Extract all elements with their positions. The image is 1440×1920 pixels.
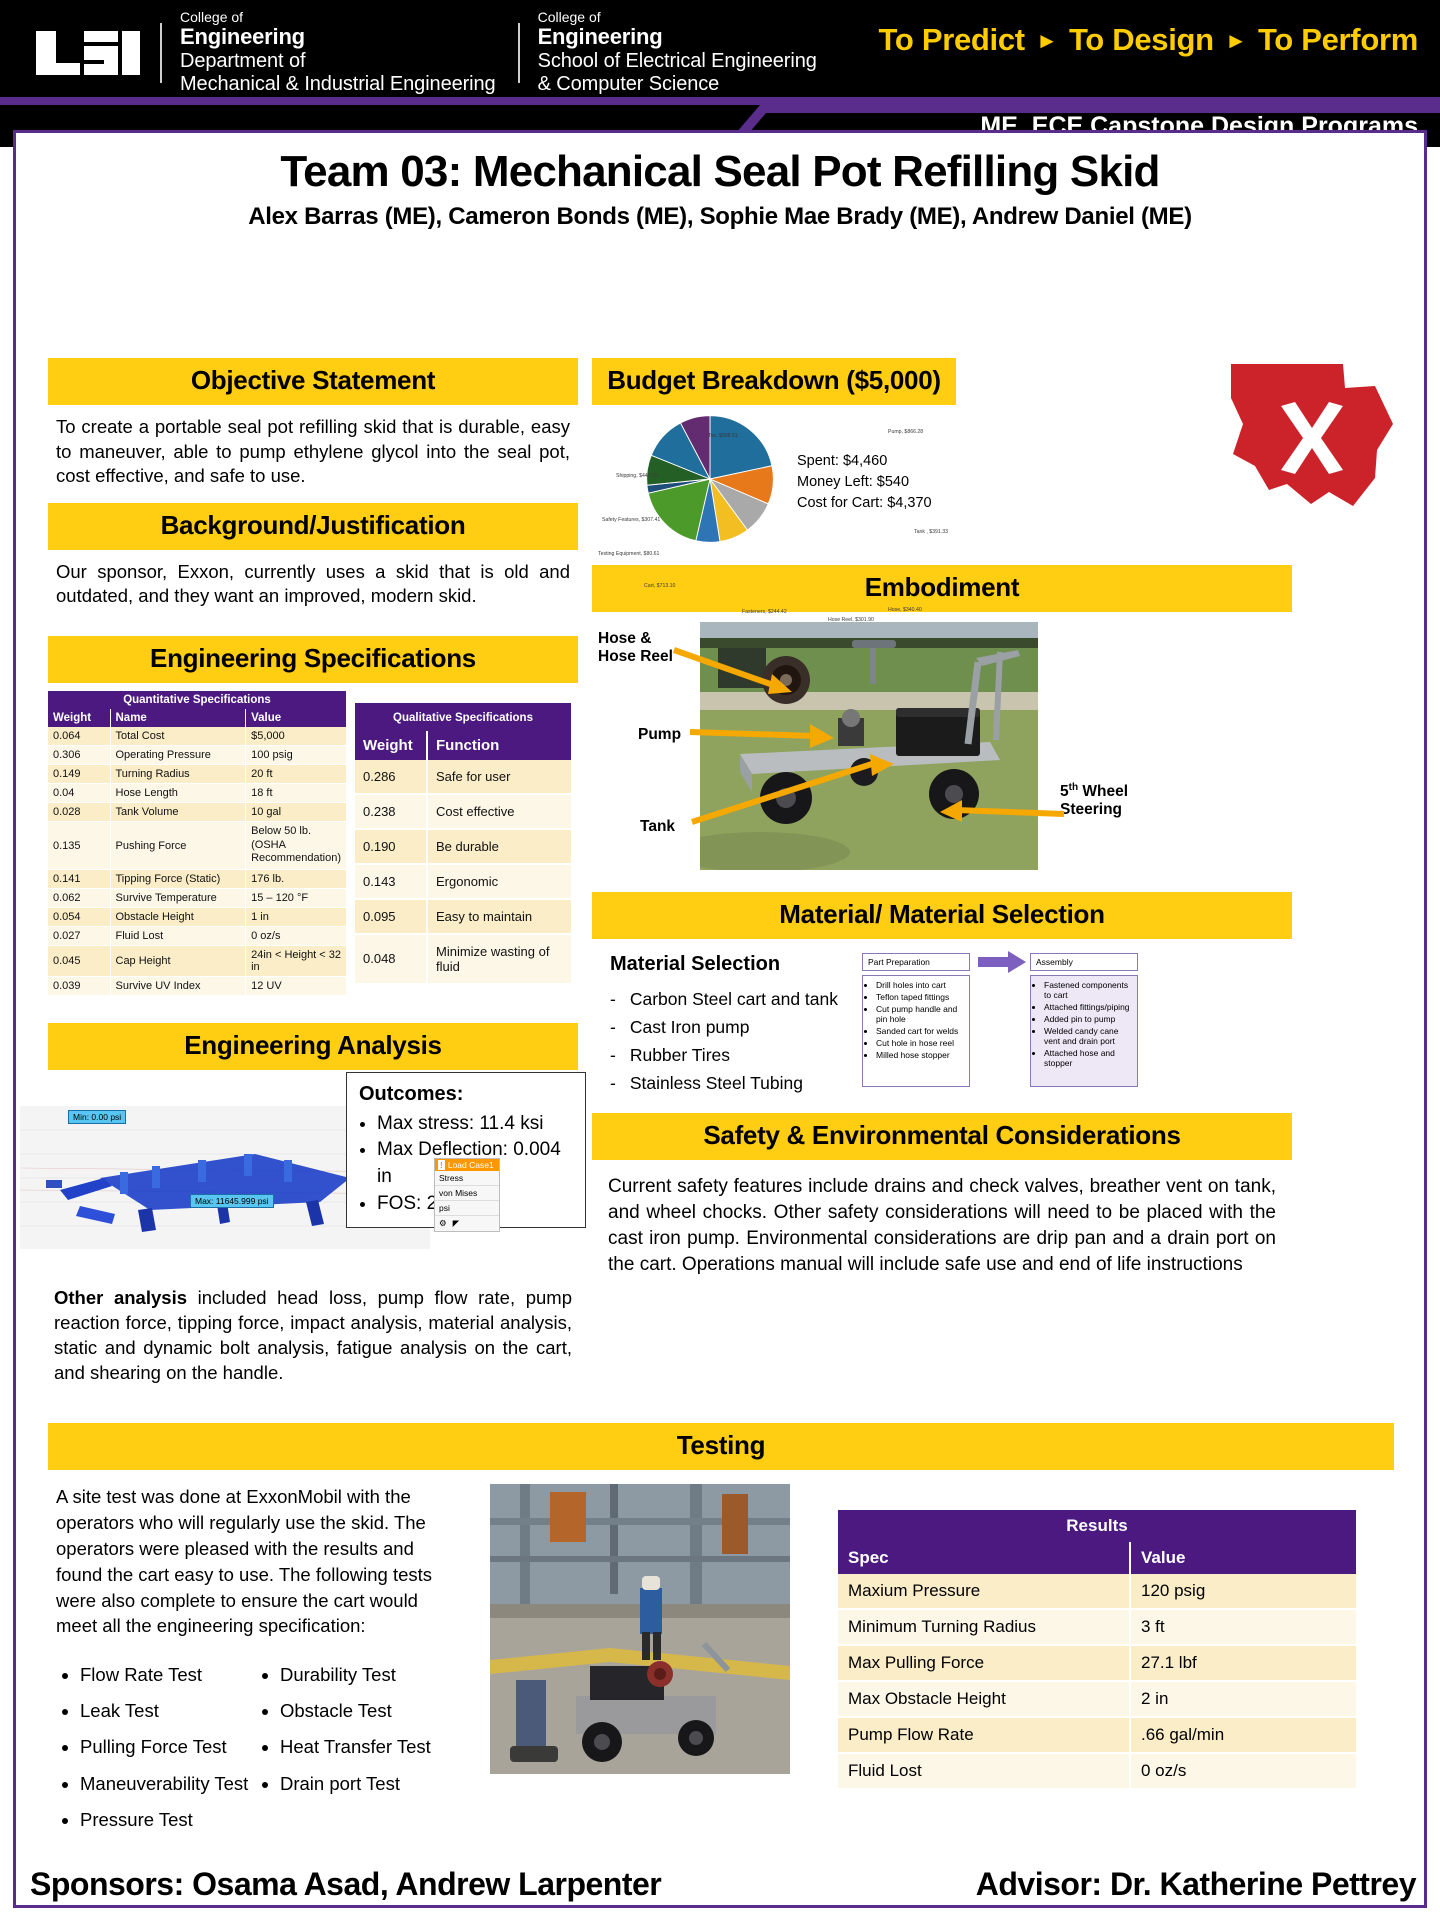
triangle-right-icon-1: ► bbox=[1033, 28, 1060, 53]
results-col-spec: Spec bbox=[838, 1542, 1130, 1574]
warning-icon: ! bbox=[438, 1160, 445, 1170]
results-table-body: Maxium Pressure120 psigMinimum Turning R… bbox=[838, 1574, 1357, 1789]
table-cell: Survive Temperature bbox=[110, 889, 246, 908]
table-row: Max Pulling Force27.1 lbf bbox=[838, 1645, 1357, 1681]
table-row: 0.306Operating Pressure100 psig bbox=[48, 745, 347, 764]
qualitative-specs-table: Qualitative Specifications Weight Functi… bbox=[355, 703, 573, 985]
table-cell: Easy to maintain bbox=[427, 899, 572, 934]
site-test-photo bbox=[490, 1484, 790, 1774]
budget-remaining: Money Left: $540 bbox=[797, 472, 932, 493]
table-cell: 0.095 bbox=[355, 899, 427, 934]
table-cell: 0.062 bbox=[48, 889, 110, 908]
budget-notes: Spent: $4,460 Money Left: $540 Cost for … bbox=[797, 451, 932, 514]
table-cell: Maxium Pressure bbox=[838, 1574, 1130, 1609]
site-header: College of Engineering Department of Mec… bbox=[0, 0, 1440, 105]
pie-slice-label: Hose, $340.40 bbox=[888, 607, 922, 613]
table-cell: 24in < Height < 32 in bbox=[246, 946, 347, 977]
list-item: Drain port Test bbox=[280, 1766, 460, 1802]
table-cell: 18 ft bbox=[246, 783, 347, 802]
table-row: 0.04Hose Length18 ft bbox=[48, 783, 347, 802]
table-row: 0.141Tipping Force (Static)176 lb. bbox=[48, 870, 347, 889]
table-cell: 176 lb. bbox=[246, 870, 347, 889]
list-item: -Cast Iron pump bbox=[610, 1013, 862, 1041]
testing-text: A site test was done at ExxonMobil with … bbox=[56, 1484, 460, 1639]
col-function: Function bbox=[427, 731, 572, 760]
callout-wheel-line2: Steering bbox=[1060, 801, 1128, 819]
table-row: 0.054Obstacle Height1 in bbox=[48, 908, 347, 927]
table-cell: 0.141 bbox=[48, 870, 110, 889]
list-item: Pulling Force Test bbox=[80, 1729, 260, 1765]
school-line-2: & Computer Science bbox=[538, 73, 817, 96]
callout-wheel-ord: th bbox=[1069, 782, 1078, 793]
other-analysis-label: Other analysis bbox=[54, 1287, 187, 1308]
table-row: Maxium Pressure120 psig bbox=[838, 1574, 1357, 1609]
pie-slice-label: Testing Equipment, $80.61 bbox=[598, 551, 659, 557]
list-item: -Rubber Tires bbox=[610, 1041, 862, 1069]
department-line-2: Mechanical & Industrial Engineering bbox=[180, 73, 496, 96]
results-col-value: Value bbox=[1130, 1542, 1357, 1574]
callout-hose-reel: Hose & Hose Reel bbox=[598, 630, 673, 666]
safety-heading: Safety & Environmental Considerations bbox=[592, 1113, 1292, 1160]
engineering-label-2: Engineering bbox=[538, 25, 817, 50]
pie-slice-label: Tax, $308.51 bbox=[708, 433, 738, 439]
poster-canvas: Team 03: Mechanical Seal Pot Refilling S… bbox=[13, 130, 1427, 1908]
list-item: Cut pump handle and pin hole bbox=[876, 1004, 965, 1024]
pie-slice-label: Shipping, $447.29 bbox=[616, 473, 658, 479]
list-item-label: Rubber Tires bbox=[630, 1041, 730, 1069]
list-item-label: Stainless Steel Tubing bbox=[630, 1069, 803, 1097]
quantitative-specs-table: Quantitative Specifications Weight Name … bbox=[48, 691, 347, 996]
tests-column-1: Flow Rate TestLeak TestPulling Force Tes… bbox=[56, 1657, 260, 1837]
header-divider-1 bbox=[160, 23, 162, 83]
pie-slice-label: Pump, $866.28 bbox=[888, 429, 923, 435]
table-cell: Fluid Lost bbox=[110, 927, 246, 946]
col-weight-q: Weight bbox=[355, 731, 427, 760]
table-cell: 0.306 bbox=[48, 745, 110, 764]
table-cell: 120 psig bbox=[1130, 1574, 1357, 1609]
flow-arrow-icon bbox=[978, 951, 1026, 973]
pie-slice-label: Cart, $713.10 bbox=[644, 583, 675, 589]
list-item: Maneuverability Test bbox=[80, 1766, 260, 1802]
other-analysis-text: Other analysis included head loss, pump … bbox=[48, 1278, 578, 1385]
objective-text: To create a portable seal pot refilling … bbox=[48, 405, 578, 493]
quantitative-specs-body: 0.064Total Cost$5,0000.306Operating Pres… bbox=[48, 727, 347, 996]
table-cell: Turning Radius bbox=[110, 764, 246, 783]
table-row: 0.143Ergonomic bbox=[355, 864, 572, 899]
table-cell: 0 oz/s bbox=[246, 927, 347, 946]
department-line-1: Department of bbox=[180, 50, 496, 73]
list-item-label: Carbon Steel cart and tank bbox=[630, 985, 838, 1013]
list-item: -Stainless Steel Tubing bbox=[610, 1069, 862, 1097]
table-cell: 10 gal bbox=[246, 802, 347, 821]
callout-pump: Pump bbox=[638, 726, 681, 744]
college-block-ece: College of Engineering School of Electri… bbox=[538, 10, 817, 96]
col-name: Name bbox=[110, 709, 246, 727]
dash-bullet-icon: - bbox=[610, 1041, 616, 1069]
flow-step1-title: Part Preparation bbox=[862, 953, 970, 971]
table-cell: Total Cost bbox=[110, 727, 246, 746]
college-block-me: College of Engineering Department of Mec… bbox=[180, 10, 496, 96]
budget-cart-cost: Cost for Cart: $4,370 bbox=[797, 493, 932, 514]
safety-text: Current safety features include drains a… bbox=[592, 1160, 1292, 1278]
fea-panel-type: von Mises bbox=[435, 1185, 499, 1200]
fea-panel-stress: Stress bbox=[435, 1171, 499, 1185]
list-item: Pressure Test bbox=[80, 1802, 260, 1838]
list-item: Drill holes into cart bbox=[876, 980, 965, 990]
table-row: 0.027Fluid Lost0 oz/s bbox=[48, 927, 347, 946]
dash-bullet-icon: - bbox=[610, 985, 616, 1013]
table-row: 0.064Total Cost$5,000 bbox=[48, 727, 347, 746]
qualitative-specs-body: 0.286Safe for user0.238Cost effective0.1… bbox=[355, 760, 572, 984]
list-item: Attached fittings/piping bbox=[1044, 1002, 1133, 1012]
table-cell: Cost effective bbox=[427, 794, 572, 829]
triangle-right-icon-2: ► bbox=[1222, 28, 1249, 53]
material-subheading: Material Selection bbox=[610, 953, 862, 976]
table-cell: 0.028 bbox=[48, 802, 110, 821]
manufacturing-flow-diagram: Part Preparation Drill holes into cartTe… bbox=[862, 953, 1282, 1089]
pie-slice-label: Fasteners, $244.42 bbox=[742, 609, 787, 615]
table-cell: 2 in bbox=[1130, 1681, 1357, 1717]
table-row: 0.028Tank Volume10 gal bbox=[48, 802, 347, 821]
table-cell: 1 in bbox=[246, 908, 347, 927]
table-cell: Operating Pressure bbox=[110, 745, 246, 764]
table-cell: 0.064 bbox=[48, 727, 110, 746]
table-row: 0.238Cost effective bbox=[355, 794, 572, 829]
table-cell: 27.1 lbf bbox=[1130, 1645, 1357, 1681]
budget-chart: Pump, $866.28Tank , $391.33Hose, $340.40… bbox=[592, 411, 1292, 551]
table-row: 0.095Easy to maintain bbox=[355, 899, 572, 934]
table-cell: Be durable bbox=[427, 829, 572, 864]
arrow-fifth-wheel bbox=[922, 778, 1068, 838]
table-cell: .66 gal/min bbox=[1130, 1717, 1357, 1753]
table-cell: 0.027 bbox=[48, 927, 110, 946]
table-row: Minimum Turning Radius3 ft bbox=[838, 1609, 1357, 1645]
table-cell: 0.135 bbox=[48, 821, 110, 869]
right-column: Budget Breakdown ($5,000) Pump, $866.28T… bbox=[592, 358, 1292, 1278]
list-item: Fastened components to cart bbox=[1044, 980, 1133, 1000]
table-cell: Minimize wasting of fluid bbox=[427, 934, 572, 984]
list-item: Added pin to pump bbox=[1044, 1014, 1133, 1024]
gear-icon[interactable]: ⚙ bbox=[439, 1218, 447, 1229]
ruler-icon[interactable]: ◤ bbox=[453, 1218, 460, 1229]
callout-wheel-word: Wheel bbox=[1078, 783, 1128, 800]
sponsors-label: Sponsors: Osama Asad, Andrew Larpenter bbox=[30, 1866, 661, 1903]
table-cell: Max Obstacle Height bbox=[838, 1681, 1130, 1717]
budget-spent: Spent: $4,460 bbox=[797, 451, 932, 472]
list-item: Obstacle Test bbox=[280, 1693, 460, 1729]
header-divider-2 bbox=[518, 23, 520, 83]
callout-wheel-line1: 5th Wheel bbox=[1060, 782, 1128, 801]
tagline-perform: To Perform bbox=[1258, 22, 1418, 57]
table-cell: 0.149 bbox=[48, 764, 110, 783]
dash-bullet-icon: - bbox=[610, 1013, 616, 1041]
engineering-label-1: Engineering bbox=[180, 25, 496, 50]
table-cell: Hose Length bbox=[110, 783, 246, 802]
results-table: Results Spec Value Maxium Pressure120 ps… bbox=[838, 1510, 1358, 1790]
table-cell: Below 50 lb. (OSHA Recommendation) bbox=[246, 821, 347, 869]
table-cell: Cap Height bbox=[110, 946, 246, 977]
pie-slice-label: Tank , $391.33 bbox=[914, 529, 948, 535]
flow-step2-title: Assembly bbox=[1030, 953, 1138, 971]
table-cell: 20 ft bbox=[246, 764, 347, 783]
table-row: 0.039Survive UV Index12 UV bbox=[48, 977, 347, 996]
fea-panel-title: Load Case1 bbox=[448, 1160, 494, 1170]
objective-heading: Objective Statement bbox=[48, 358, 578, 405]
background-text: Our sponsor, Exxon, currently uses a ski… bbox=[48, 550, 578, 613]
college-of-label-1: College of bbox=[180, 10, 496, 26]
embodiment-figure: Hose & Hose Reel Pump Tank 5th Wheel Ste… bbox=[592, 622, 1292, 884]
list-item: Heat Transfer Test bbox=[280, 1729, 460, 1765]
table-cell: 0.286 bbox=[355, 760, 427, 794]
callout-tank: Tank bbox=[640, 818, 675, 836]
callout-hose-line1: Hose & bbox=[598, 630, 673, 648]
table-cell: 0.143 bbox=[355, 864, 427, 899]
engineering-specs-heading: Engineering Specifications bbox=[48, 636, 578, 683]
fea-legend-panel: ! Load Case1 Stress von Mises psi ⚙ ◤ bbox=[434, 1158, 500, 1232]
table-cell: Tank Volume bbox=[110, 802, 246, 821]
budget-heading: Budget Breakdown ($5,000) bbox=[592, 358, 956, 405]
flow-step2-box: Fastened components to cartAttached fitt… bbox=[1030, 975, 1138, 1087]
list-item: Attached hose and stopper bbox=[1044, 1048, 1133, 1068]
results-group-header: Results bbox=[838, 1510, 1357, 1542]
table-cell: 0.048 bbox=[355, 934, 427, 984]
fea-min-label: Min: 0.00 psi bbox=[68, 1110, 126, 1124]
callout-hose-line2: Hose Reel bbox=[598, 648, 673, 666]
table-cell: Minimum Turning Radius bbox=[838, 1609, 1130, 1645]
material-items-list: -Carbon Steel cart and tank-Cast Iron pu… bbox=[610, 985, 862, 1097]
tagline: To Predict ► To Design ► To Perform bbox=[879, 22, 1418, 58]
background-heading: Background/Justification bbox=[48, 503, 578, 550]
list-item: Durability Test bbox=[280, 1657, 460, 1693]
page-title: Team 03: Mechanical Seal Pot Refilling S… bbox=[16, 147, 1424, 197]
lsu-logo bbox=[34, 29, 142, 77]
table-cell: 3 ft bbox=[1130, 1609, 1357, 1645]
dash-bullet-icon: - bbox=[610, 1069, 616, 1097]
table-cell: Survive UV Index bbox=[110, 977, 246, 996]
table-cell: 0.039 bbox=[48, 977, 110, 996]
table-row: Pump Flow Rate.66 gal/min bbox=[838, 1717, 1357, 1753]
table-cell: Pushing Force bbox=[110, 821, 246, 869]
fea-max-label: Max: 11645.999 psi bbox=[190, 1194, 274, 1208]
fea-panel-unit: psi bbox=[435, 1200, 499, 1215]
table-row: 0.062Survive Temperature15 – 120 °F bbox=[48, 889, 347, 908]
table-cell: Safe for user bbox=[427, 760, 572, 794]
tests-column-2: Durability TestObstacle TestHeat Transfe… bbox=[260, 1657, 460, 1837]
col-weight: Weight bbox=[48, 709, 110, 727]
list-item: Welded candy cane vent and drain port bbox=[1044, 1026, 1133, 1046]
list-item-label: Cast Iron pump bbox=[630, 1013, 750, 1041]
list-item: Max stress: 11.4 ksi bbox=[377, 1111, 573, 1138]
list-item: Milled hose stopper bbox=[876, 1050, 965, 1060]
quantitative-group-header: Quantitative Specifications bbox=[48, 691, 347, 709]
table-cell: 0.04 bbox=[48, 783, 110, 802]
arrow-hose-reel bbox=[672, 646, 800, 706]
list-item: Flow Rate Test bbox=[80, 1657, 260, 1693]
flow-step1-box: Drill holes into cartTeflon taped fittin… bbox=[862, 975, 970, 1087]
testing-heading: Testing bbox=[48, 1423, 1394, 1470]
table-cell: 15 – 120 °F bbox=[246, 889, 347, 908]
table-cell: 0 oz/s bbox=[1130, 1753, 1357, 1789]
table-cell: 12 UV bbox=[246, 977, 347, 996]
tagline-design: To Design bbox=[1069, 22, 1214, 57]
advisor-label: Advisor: Dr. Katherine Pettrey bbox=[976, 1866, 1416, 1903]
table-cell: 0.190 bbox=[355, 829, 427, 864]
college-of-label-2: College of bbox=[538, 10, 817, 26]
table-cell: Max Pulling Force bbox=[838, 1645, 1130, 1681]
table-row: Fluid Lost0 oz/s bbox=[838, 1753, 1357, 1789]
table-cell: Pump Flow Rate bbox=[838, 1717, 1130, 1753]
tagline-predict: To Predict bbox=[879, 22, 1025, 57]
table-cell: $5,000 bbox=[246, 727, 347, 746]
table-cell: 0.045 bbox=[48, 946, 110, 977]
table-row: 0.286Safe for user bbox=[355, 760, 572, 794]
table-row: 0.048Minimize wasting of fluid bbox=[355, 934, 572, 984]
material-heading: Material/ Material Selection bbox=[592, 892, 1292, 939]
school-line-1: School of Electrical Engineering bbox=[538, 50, 817, 73]
list-item: Cut hole in hose reel bbox=[876, 1038, 965, 1048]
table-cell: 0.054 bbox=[48, 908, 110, 927]
col-value: Value bbox=[246, 709, 347, 727]
list-item: Teflon taped fittings bbox=[876, 992, 965, 1002]
table-cell: Fluid Lost bbox=[838, 1753, 1130, 1789]
table-cell: 100 psig bbox=[246, 745, 347, 764]
left-column: Objective Statement To create a portable… bbox=[48, 358, 578, 1385]
table-cell: Obstacle Height bbox=[110, 908, 246, 927]
table-cell: Tipping Force (Static) bbox=[110, 870, 246, 889]
table-row: Max Obstacle Height2 in bbox=[838, 1681, 1357, 1717]
arrow-tank bbox=[686, 752, 906, 828]
table-row: 0.149Turning Radius20 ft bbox=[48, 764, 347, 783]
testing-section: Testing A site test was done at ExxonMob… bbox=[48, 1423, 1394, 1838]
author-list: Alex Barras (ME), Cameron Bonds (ME), So… bbox=[16, 203, 1424, 231]
table-row: 0.190Be durable bbox=[355, 829, 572, 864]
callout-fifth-wheel: 5th Wheel Steering bbox=[1060, 782, 1128, 819]
table-cell: 0.238 bbox=[355, 794, 427, 829]
table-row: 0.045Cap Height24in < Height < 32 in bbox=[48, 946, 347, 977]
qualitative-group-header: Qualitative Specifications bbox=[355, 703, 572, 731]
embodiment-heading: Embodiment bbox=[592, 565, 1292, 612]
analysis-heading: Engineering Analysis bbox=[48, 1023, 578, 1070]
pie-slice-label: Safety Features, $307.41 bbox=[602, 517, 660, 523]
table-cell: Ergonomic bbox=[427, 864, 572, 899]
outcomes-title: Outcomes: bbox=[359, 1083, 463, 1105]
table-row: 0.135Pushing ForceBelow 50 lb. (OSHA Rec… bbox=[48, 821, 347, 869]
list-item: -Carbon Steel cart and tank bbox=[610, 985, 862, 1013]
poster-footer: Sponsors: Osama Asad, Andrew Larpenter A… bbox=[16, 1866, 1430, 1905]
list-item: Sanded cart for welds bbox=[876, 1026, 965, 1036]
list-item: Leak Test bbox=[80, 1693, 260, 1729]
